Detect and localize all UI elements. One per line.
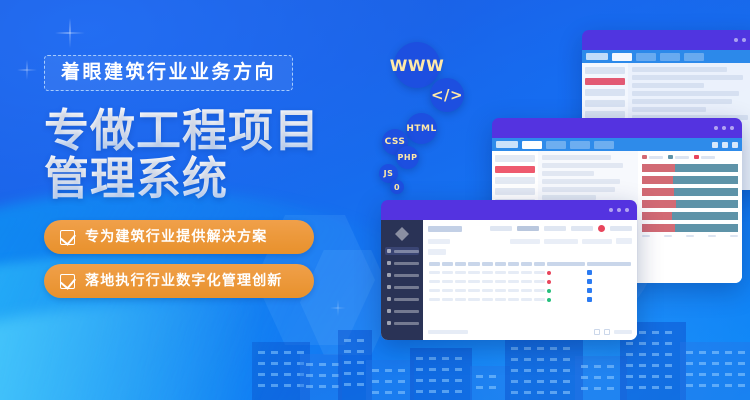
window-light xyxy=(550,358,557,361)
legend-item-3 xyxy=(694,155,715,159)
window-light xyxy=(639,386,646,389)
menu-a[interactable] xyxy=(490,226,512,231)
window-light xyxy=(652,353,659,356)
tab-3[interactable] xyxy=(570,141,590,149)
cell-text xyxy=(521,298,532,301)
window-light xyxy=(665,364,672,367)
content-header xyxy=(428,224,632,233)
window-light xyxy=(738,384,745,387)
back-list-row xyxy=(632,107,706,112)
window-light xyxy=(429,357,436,360)
row-action-icon[interactable] xyxy=(587,297,592,302)
mid-list-row xyxy=(542,155,611,160)
window-light xyxy=(455,390,462,393)
window-light xyxy=(652,375,659,378)
chart-bar-row xyxy=(642,187,738,196)
table-cell xyxy=(520,277,533,286)
titlebar-dot xyxy=(734,38,738,42)
tab-4[interactable] xyxy=(684,53,704,61)
sidebar-menu-item-5[interactable] xyxy=(385,295,419,303)
window-light xyxy=(271,373,278,376)
table-cell xyxy=(481,277,494,286)
table-cell xyxy=(507,286,520,295)
status-badge xyxy=(547,289,551,293)
table-header-col-10 xyxy=(546,260,585,268)
window-light xyxy=(665,375,672,378)
table-window-front xyxy=(381,200,637,340)
message-icon[interactable] xyxy=(722,142,728,148)
window-light xyxy=(455,357,462,360)
table-header-col-11 xyxy=(586,260,632,268)
cell-text xyxy=(442,271,453,274)
window-light xyxy=(699,384,706,387)
chart-bar-row xyxy=(642,223,738,232)
chart-bar-segment-series-teal xyxy=(675,164,738,172)
table-cell xyxy=(454,268,467,277)
cell-text xyxy=(495,298,506,301)
menu-bullet-icon xyxy=(387,273,391,277)
chart-bar-segment-series-teal xyxy=(672,212,738,220)
window-light xyxy=(686,373,693,376)
building-silhouette xyxy=(366,360,414,400)
window-light xyxy=(284,384,291,387)
row-action-icon[interactable] xyxy=(587,270,592,275)
table-cell xyxy=(467,295,480,304)
cell-text xyxy=(508,298,519,301)
table-header-col-5 xyxy=(481,260,494,268)
window-light xyxy=(581,365,588,368)
window-light xyxy=(511,347,518,350)
bell-icon[interactable] xyxy=(712,142,718,148)
axis-tick xyxy=(686,235,694,237)
window-light xyxy=(319,374,326,377)
sidebar-menu-item-1[interactable] xyxy=(385,247,419,255)
table-cell xyxy=(494,268,507,277)
header-label xyxy=(521,262,532,266)
data-table[interactable] xyxy=(428,260,632,304)
cell-text xyxy=(482,271,493,274)
window-light xyxy=(297,373,304,376)
cell-text xyxy=(508,280,519,283)
window-light xyxy=(258,351,265,354)
chart-bar-segment-series-red xyxy=(642,212,672,220)
header-label xyxy=(482,262,493,266)
table-cell xyxy=(546,268,585,277)
window-light xyxy=(429,390,436,393)
window-light xyxy=(357,383,364,386)
back-menu-item-4[interactable] xyxy=(585,100,625,107)
building-windows xyxy=(470,366,510,400)
chart-bar-segment-series-teal xyxy=(673,176,738,184)
cell-text xyxy=(442,298,453,301)
tab-2[interactable] xyxy=(636,53,656,61)
tab-4[interactable] xyxy=(594,141,614,149)
status-badge xyxy=(547,280,551,284)
window-light xyxy=(357,361,364,364)
window-light xyxy=(372,369,379,372)
table-header-col-3 xyxy=(454,260,467,268)
table-cell xyxy=(494,295,507,304)
building-windows xyxy=(410,348,472,400)
titlebar-dot xyxy=(742,38,746,42)
page-title xyxy=(428,226,462,232)
chart-bars xyxy=(642,163,738,235)
mid-menu-item-4[interactable] xyxy=(495,188,535,195)
window-light xyxy=(607,387,614,390)
cell-text xyxy=(429,271,440,274)
cell-text xyxy=(495,271,506,274)
window-light xyxy=(626,342,633,345)
cell-text xyxy=(442,289,453,292)
cell-text xyxy=(521,280,532,283)
tagline-text: 着眼建筑行业业务方向 xyxy=(61,63,276,82)
table-cell xyxy=(441,295,454,304)
filter-2[interactable] xyxy=(510,239,540,244)
sidebar-menu-item-6[interactable] xyxy=(385,307,419,315)
table-cell xyxy=(467,286,480,295)
back-menu-item-3[interactable] xyxy=(585,89,625,96)
window-light xyxy=(725,351,732,354)
window-light xyxy=(524,358,531,361)
table-cell xyxy=(586,295,632,304)
table-cell xyxy=(533,286,546,295)
window-light xyxy=(699,362,706,365)
chart-x-axis xyxy=(642,235,738,239)
menu-bullet-icon xyxy=(387,309,391,313)
window-light xyxy=(476,386,483,389)
window-body-front xyxy=(381,220,637,340)
back-list-row xyxy=(632,91,739,96)
chart-bar-row xyxy=(642,211,738,220)
window-light xyxy=(725,384,732,387)
chart-bar-segment-series-red xyxy=(642,188,674,196)
window-light xyxy=(581,387,588,390)
window-light xyxy=(306,385,313,388)
action-bar xyxy=(428,248,632,256)
header-label xyxy=(534,262,545,266)
header-label xyxy=(495,262,506,266)
cell-text xyxy=(534,298,545,301)
window-light xyxy=(537,358,544,361)
window-light xyxy=(416,379,423,382)
headline: 专做工程项目 管理系统 xyxy=(44,107,344,203)
table-header-col-1 xyxy=(428,260,441,268)
cell-text xyxy=(534,289,545,292)
window-light xyxy=(398,380,405,383)
filter-1[interactable] xyxy=(428,239,450,244)
window-light xyxy=(581,376,588,379)
cell-text xyxy=(508,271,519,274)
building-silhouette xyxy=(575,356,627,400)
mid-menu-item-1[interactable] xyxy=(495,155,535,162)
tab-1[interactable] xyxy=(612,53,632,61)
table-cell xyxy=(586,268,632,277)
window-light xyxy=(442,379,449,382)
window-light xyxy=(607,365,614,368)
table-cell xyxy=(454,277,467,286)
window-light xyxy=(550,369,557,372)
window-light xyxy=(297,351,304,354)
window-light xyxy=(537,380,544,383)
cell-text xyxy=(534,280,545,283)
window-light xyxy=(725,362,732,365)
table-cell xyxy=(546,277,585,286)
table-header-col-9 xyxy=(533,260,546,268)
window-light xyxy=(563,391,570,394)
table-header-col-6 xyxy=(494,260,507,268)
table-cell xyxy=(494,286,507,295)
pager-next[interactable] xyxy=(604,329,610,335)
window-light xyxy=(712,384,719,387)
window-light xyxy=(416,390,423,393)
window-light xyxy=(652,342,659,345)
table-cell xyxy=(586,286,632,295)
table-footer xyxy=(428,328,632,336)
feature-bullet-2-label: 落地执行行业数字化管理创新 xyxy=(85,274,283,288)
menu-b[interactable] xyxy=(517,226,539,231)
window-light xyxy=(429,368,436,371)
cell-text xyxy=(455,289,466,292)
table-header-col-7 xyxy=(507,260,520,268)
header-label xyxy=(547,262,584,266)
window-light xyxy=(385,380,392,383)
window-light xyxy=(665,331,672,334)
cell-text xyxy=(468,280,479,283)
diamond-logo-icon xyxy=(395,227,409,241)
window-light xyxy=(686,351,693,354)
table-cell xyxy=(520,286,533,295)
axis-tick xyxy=(642,235,650,237)
sidebar-menu-item-2[interactable] xyxy=(385,259,419,267)
status-badge xyxy=(547,298,551,302)
window-light xyxy=(524,391,531,394)
window-light xyxy=(258,362,265,365)
status-badge xyxy=(547,271,551,275)
notification-badge[interactable] xyxy=(598,225,605,232)
mid-menu-item-3[interactable] xyxy=(495,177,535,184)
cell-text xyxy=(508,289,519,292)
cell-text xyxy=(442,280,453,283)
building-windows xyxy=(505,338,583,400)
cell-text xyxy=(429,298,440,301)
mid-list-row xyxy=(542,171,594,176)
window-light xyxy=(524,347,531,350)
back-menu-item-1[interactable] xyxy=(585,67,625,74)
row-action-icon[interactable] xyxy=(587,288,592,293)
axis-tick xyxy=(664,235,672,237)
check-box-icon xyxy=(60,274,75,289)
chart-bar-row xyxy=(642,199,738,208)
building-silhouette xyxy=(680,342,750,400)
window-light xyxy=(738,362,745,365)
table-cell xyxy=(441,268,454,277)
cell-text xyxy=(468,271,479,274)
window-light xyxy=(476,375,483,378)
cell-text xyxy=(455,271,466,274)
sparkle-icon-2 xyxy=(17,60,37,80)
window-light xyxy=(357,372,364,375)
table-cell xyxy=(586,277,632,286)
menu-d[interactable] xyxy=(571,226,593,231)
window-light xyxy=(537,369,544,372)
menu-label xyxy=(394,250,419,253)
window-light xyxy=(511,358,518,361)
table-row[interactable] xyxy=(428,277,632,286)
window-light xyxy=(563,380,570,383)
table-cell xyxy=(533,268,546,277)
chart-bar-segment-series-red xyxy=(642,176,673,184)
window-light xyxy=(665,386,672,389)
cell-text xyxy=(534,271,545,274)
building-windows xyxy=(366,360,414,400)
table-header-col-2 xyxy=(441,260,454,268)
window-light xyxy=(511,391,518,394)
window-light xyxy=(524,380,531,383)
window-light xyxy=(271,362,278,365)
table-header-col-4 xyxy=(467,260,480,268)
chart-bar-segment-series-red xyxy=(642,164,675,172)
tagline-box: 着眼建筑行业业务方向 xyxy=(44,55,293,91)
pager-prev[interactable] xyxy=(594,329,600,335)
user-menu[interactable] xyxy=(610,226,632,231)
window-light xyxy=(511,380,518,383)
table-row[interactable] xyxy=(428,286,632,295)
check-box-icon xyxy=(60,230,75,245)
tech-bubble-: </> xyxy=(430,78,464,112)
window-light xyxy=(665,342,672,345)
tech-bubble-www: WWW xyxy=(394,42,440,88)
window-light xyxy=(725,373,732,376)
window-light xyxy=(297,384,304,387)
table-cell xyxy=(520,268,533,277)
window-light xyxy=(537,347,544,350)
feature-bullets: 专为建筑行业提供解决方案 落地执行行业数字化管理创新 xyxy=(44,220,344,298)
legend-label xyxy=(701,156,715,159)
mid-list-row xyxy=(542,179,620,184)
legend-swatch xyxy=(694,155,699,159)
back-menu-item-2[interactable] xyxy=(585,78,625,85)
tech-bubble-php: PHP xyxy=(396,146,419,169)
cell-text xyxy=(468,298,479,301)
window-light xyxy=(319,363,326,366)
table-cell xyxy=(467,268,480,277)
feature-bullet-2[interactable]: 落地执行行业数字化管理创新 xyxy=(44,264,314,298)
menu-label xyxy=(394,286,419,289)
window-light xyxy=(398,391,405,394)
window-light xyxy=(344,350,351,353)
add-button[interactable] xyxy=(428,249,446,255)
menu-bullet-icon xyxy=(387,297,391,301)
tab-1[interactable] xyxy=(522,141,542,149)
feature-bullet-1[interactable]: 专为建筑行业提供解决方案 xyxy=(44,220,314,254)
table-header-col-8 xyxy=(520,260,533,268)
building-windows xyxy=(252,342,310,400)
window-light xyxy=(594,376,601,379)
table-cell xyxy=(454,295,467,304)
window-light xyxy=(416,368,423,371)
back-list-row xyxy=(632,83,704,88)
sidebar-menu-item-4[interactable] xyxy=(385,283,419,291)
cell-text xyxy=(468,289,479,292)
window-light xyxy=(639,364,646,367)
cell-text xyxy=(495,280,506,283)
menu-bullet-icon xyxy=(387,261,391,265)
chart-bar-row xyxy=(642,163,738,172)
table-row[interactable] xyxy=(428,268,632,277)
titlebar-dot xyxy=(722,126,726,130)
window-light xyxy=(594,365,601,368)
window-light xyxy=(416,357,423,360)
window-light xyxy=(712,362,719,365)
table-cell xyxy=(481,268,494,277)
avatar[interactable] xyxy=(732,142,738,148)
header-label xyxy=(455,262,466,266)
legend-swatch xyxy=(668,155,673,159)
search-button[interactable] xyxy=(616,238,632,244)
window-light xyxy=(271,384,278,387)
page-size-select[interactable] xyxy=(614,330,632,334)
window-light xyxy=(258,384,265,387)
window-light xyxy=(332,385,339,388)
mid-menu-item-2[interactable] xyxy=(495,166,535,173)
window-light xyxy=(306,363,313,366)
window-titlebar-front xyxy=(381,200,637,220)
menu-bullet-icon xyxy=(387,321,391,325)
table-cell xyxy=(428,268,441,277)
window-light xyxy=(455,379,462,382)
table-cell xyxy=(481,295,494,304)
tab-2[interactable] xyxy=(546,141,566,149)
sidebar-menu-item-3[interactable] xyxy=(385,271,419,279)
cell-text xyxy=(429,289,440,292)
window-light xyxy=(284,373,291,376)
menu-label xyxy=(394,262,419,265)
menu-label xyxy=(394,298,419,301)
table-row[interactable] xyxy=(428,295,632,304)
chart-panel xyxy=(638,151,742,283)
titlebar-dot xyxy=(714,126,718,130)
headline-line-1: 专做工程项目 xyxy=(44,107,344,155)
legend-label xyxy=(649,156,663,159)
mid-list-row xyxy=(542,187,615,192)
window-light xyxy=(563,347,570,350)
filter-3[interactable] xyxy=(544,239,578,244)
window-light xyxy=(550,347,557,350)
table-cell xyxy=(546,286,585,295)
dark-sidebar[interactable] xyxy=(381,220,423,340)
menu-bullet-icon xyxy=(387,249,391,253)
menu-c[interactable] xyxy=(544,226,566,231)
window-light xyxy=(652,331,659,334)
window-light xyxy=(665,353,672,356)
building-windows xyxy=(575,356,627,400)
row-action-icon[interactable] xyxy=(587,279,592,284)
cell-text xyxy=(455,298,466,301)
window-light xyxy=(626,364,633,367)
table-cell xyxy=(520,295,533,304)
window-light xyxy=(563,369,570,372)
table-cell xyxy=(507,277,520,286)
record-summary xyxy=(428,330,468,334)
promo-banner: WWW</>HTMLCSSPHPJS0 xyxy=(0,0,750,400)
sidebar-menu-item-7[interactable] xyxy=(385,319,419,327)
filter-4[interactable] xyxy=(582,239,612,244)
back-menu-item-5[interactable] xyxy=(585,111,625,118)
chart-bar-segment-series-teal xyxy=(675,224,738,232)
app-logo-icon xyxy=(496,141,518,148)
header-label xyxy=(587,262,631,266)
tab-3[interactable] xyxy=(660,53,680,61)
